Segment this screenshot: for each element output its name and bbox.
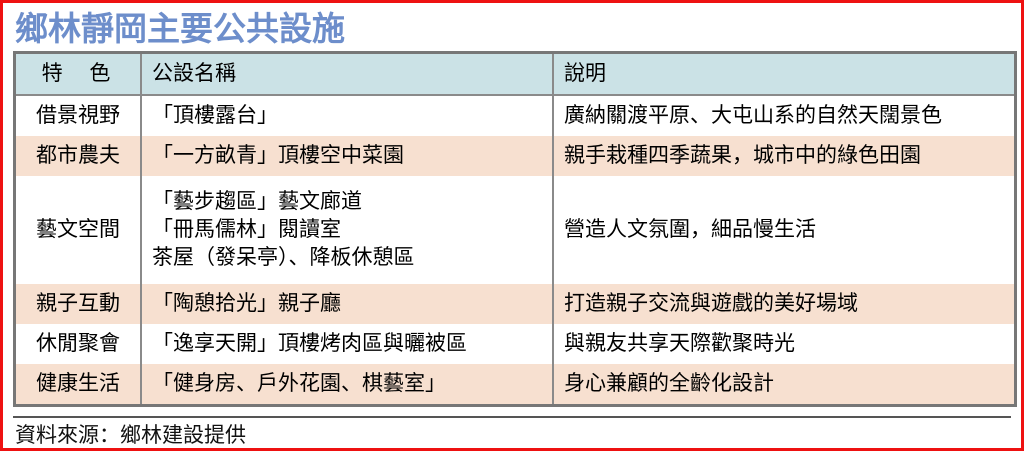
source-note: 資料來源：鄉林建設提供 (15, 422, 1011, 449)
cell-description: 身心兼顧的全齡化設計 (553, 364, 1014, 404)
cell-feature: 健康生活 (16, 364, 141, 404)
cell-name-line: 茶屋（發呆亭）、降板休憩區 (152, 244, 542, 272)
cell-name: 「逸享天開」頂樓烤肉區與曬被區 (141, 324, 553, 364)
table-row: 藝文空間「藝步趨區」藝文廊道「冊馬儒林」閱讀室茶屋（發呆亭）、降板休憩區營造人文… (16, 176, 1014, 284)
table-header-row: 特 色 公設名稱 說明 (16, 54, 1014, 95)
cell-description: 打造親子交流與遊戲的美好場域 (553, 284, 1014, 324)
content-area: 鄉林靜岡主要公共設施 特 色 公設名稱 說明 (3, 3, 1021, 448)
cell-name: 「陶憩拾光」親子廳 (141, 284, 553, 324)
cell-name: 「健身房、戶外花園、棋藝室」 (141, 364, 553, 404)
cell-name-lines: 「藝步趨區」藝文廊道「冊馬儒林」閱讀室茶屋（發呆亭）、降板休憩區 (152, 188, 542, 271)
column-header-name: 公設名稱 (141, 54, 553, 95)
cell-name: 「頂樓露台」 (141, 95, 553, 136)
cell-name: 「一方畝青」頂樓空中菜園 (141, 136, 553, 176)
cell-description: 營造人文氛圍，細品慢生活 (553, 176, 1014, 284)
column-header-feature-label: 特 色 (36, 61, 121, 85)
table-body: 借景視野「頂樓露台」廣納關渡平原、大屯山系的自然天闊景色都市農夫「一方畝青」頂樓… (16, 95, 1014, 404)
table-row: 借景視野「頂樓露台」廣納關渡平原、大屯山系的自然天闊景色 (16, 95, 1014, 136)
table-row: 親子互動「陶憩拾光」親子廳打造親子交流與遊戲的美好場域 (16, 284, 1014, 324)
infographic-page: 鄉林靜岡主要公共設施 特 色 公設名稱 說明 (0, 0, 1024, 451)
cell-name: 「藝步趨區」藝文廊道「冊馬儒林」閱讀室茶屋（發呆亭）、降板休憩區 (141, 176, 553, 284)
cell-feature: 休閒聚會 (16, 324, 141, 364)
cell-feature: 借景視野 (16, 95, 141, 136)
cell-feature: 藝文空間 (16, 176, 141, 284)
cell-feature: 親子互動 (16, 284, 141, 324)
cell-description: 親手栽種四季蔬果，城市中的綠色田園 (553, 136, 1014, 176)
facility-table-container: 特 色 公設名稱 說明 借景視野「頂樓露台」廣納關渡平原、大屯山系的自然天闊景色… (13, 51, 1017, 407)
table-row: 休閒聚會「逸享天開」頂樓烤肉區與曬被區與親友共享天際歡聚時光 (16, 324, 1014, 364)
table-head: 特 色 公設名稱 說明 (16, 54, 1014, 95)
page-title-block: 鄉林靜岡主要公共設施 (13, 7, 1011, 49)
table-row: 健康生活「健身房、戶外花園、棋藝室」身心兼顧的全齡化設計 (16, 364, 1014, 404)
facility-table: 特 色 公設名稱 說明 借景視野「頂樓露台」廣納關渡平原、大屯山系的自然天闊景色… (16, 54, 1014, 404)
cell-description: 與親友共享天際歡聚時光 (553, 324, 1014, 364)
table-row: 都市農夫「一方畝青」頂樓空中菜園親手栽種四季蔬果，城市中的綠色田園 (16, 136, 1014, 176)
cell-description: 廣納關渡平原、大屯山系的自然天闊景色 (553, 95, 1014, 136)
column-header-description: 說明 (553, 54, 1014, 95)
source-block: 資料來源：鄉林建設提供 (13, 416, 1011, 449)
cell-name-line: 「藝步趨區」藝文廊道 (152, 188, 542, 216)
cell-name-line: 「冊馬儒林」閱讀室 (152, 216, 542, 244)
cell-feature: 都市農夫 (16, 136, 141, 176)
column-header-feature: 特 色 (16, 54, 141, 95)
page-title: 鄉林靜岡主要公共設施 (15, 12, 345, 45)
